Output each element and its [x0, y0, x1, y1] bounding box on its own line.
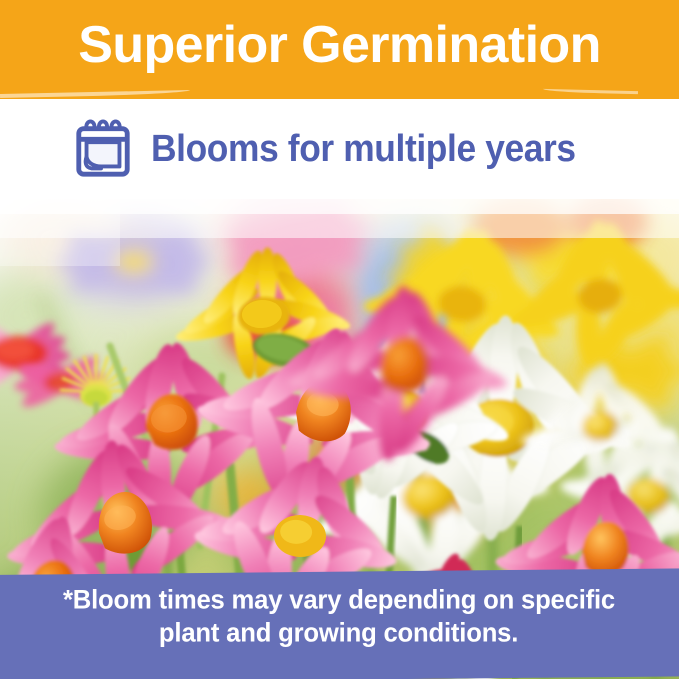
- feature-callout-row: Blooms for multiple years: [0, 99, 679, 199]
- disclaimer-line-2: plant and growing conditions.: [159, 617, 518, 650]
- disclaimer-text-block: *Bloom times may vary depending on speci…: [0, 572, 679, 679]
- header-edge-highlight-right: [543, 89, 638, 94]
- product-feature-poster: Superior Germination Blooms for multiple…: [0, 0, 679, 679]
- page-title: Superior Germination: [0, 14, 679, 76]
- header-banner: Superior Germination: [0, 0, 679, 99]
- header-edge-highlight-left: [0, 90, 190, 98]
- disclaimer-banner: *Bloom times may vary depending on speci…: [0, 568, 679, 679]
- feature-callout-text: Blooms for multiple years: [151, 127, 576, 171]
- calendar-icon: [72, 118, 134, 180]
- disclaimer-line-1: *Bloom times may vary depending on speci…: [63, 584, 615, 617]
